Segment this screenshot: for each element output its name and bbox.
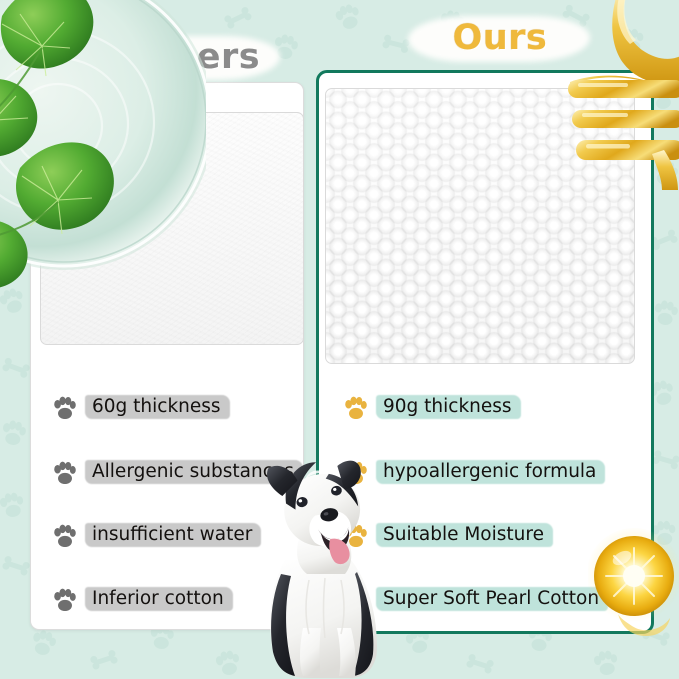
paw-icon xyxy=(52,523,78,547)
feature-label: hypoallergenic formula xyxy=(383,461,596,482)
feature-highlight: Super Soft Pearl Cotton xyxy=(376,584,608,614)
ours-title: Ours xyxy=(420,14,580,64)
ours-feature-row: hypoallergenic formula xyxy=(343,457,605,487)
paw-icon xyxy=(52,587,78,611)
infographic-canvas: Others Ours 60g thickness Allergenic sub… xyxy=(0,0,679,679)
feature-label: Inferior cotton xyxy=(92,588,224,609)
feature-highlight: 60g thickness xyxy=(85,392,230,422)
ours-cotton-pad-swatch xyxy=(325,88,635,364)
ours-feature-row: Suitable Moisture xyxy=(343,520,553,550)
feature-label: 90g thickness xyxy=(383,396,512,417)
feature-label: 60g thickness xyxy=(92,396,221,417)
others-feature-row: 60g thickness xyxy=(52,392,230,422)
feature-highlight: Allergenic substances xyxy=(85,457,303,487)
ours-title-text: Ours xyxy=(420,14,580,62)
paw-icon xyxy=(343,587,369,611)
others-feature-row: insufficient water xyxy=(52,520,261,550)
others-title-text: Others xyxy=(112,34,272,80)
feature-highlight: hypoallergenic formula xyxy=(376,457,605,487)
feature-highlight: Suitable Moisture xyxy=(376,520,553,550)
paw-icon xyxy=(343,460,369,484)
feature-label: Suitable Moisture xyxy=(383,524,544,545)
feature-label: insufficient water xyxy=(92,524,252,545)
feature-label: Super Soft Pearl Cotton xyxy=(383,588,599,609)
paw-icon xyxy=(52,395,78,419)
others-feature-row: Inferior cotton xyxy=(52,584,233,614)
others-feature-row: Allergenic substances xyxy=(52,457,303,487)
feature-highlight: Inferior cotton xyxy=(85,584,233,614)
ours-feature-row: Super Soft Pearl Cotton xyxy=(343,584,608,614)
paw-icon xyxy=(52,460,78,484)
feature-label: Allergenic substances xyxy=(92,461,294,482)
others-title: Others xyxy=(112,34,272,82)
others-cotton-pad-swatch xyxy=(40,112,304,345)
ours-feature-row: 90g thickness xyxy=(343,392,521,422)
feature-highlight: insufficient water xyxy=(85,520,261,550)
paw-icon xyxy=(343,395,369,419)
feature-highlight: 90g thickness xyxy=(376,392,521,422)
paw-icon xyxy=(343,523,369,547)
